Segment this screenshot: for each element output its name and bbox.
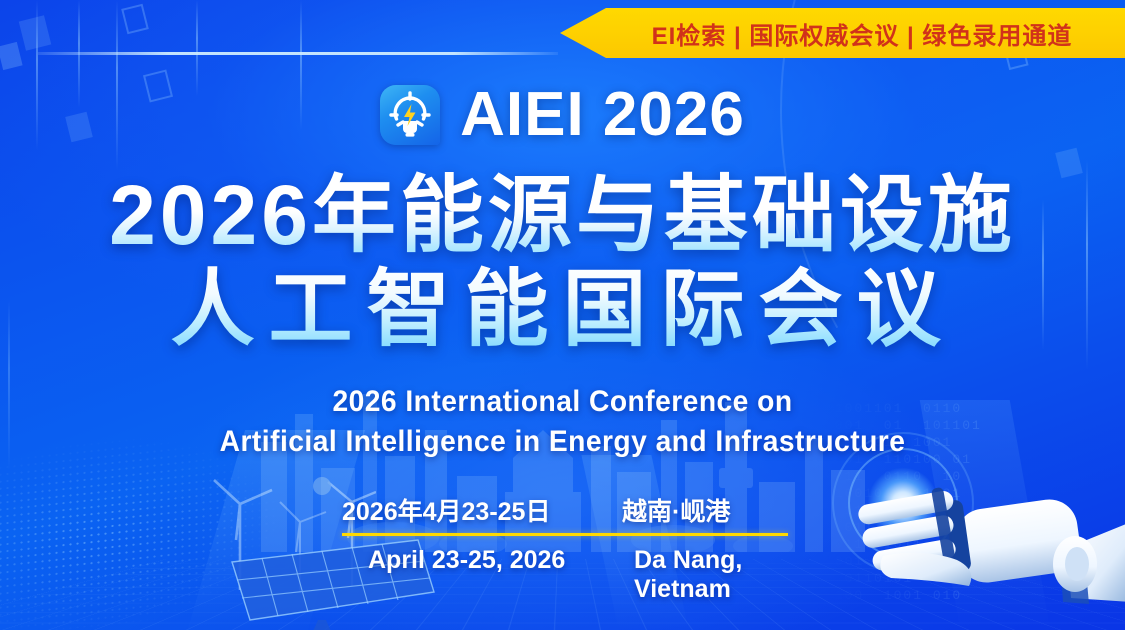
- conference-title-en: 2026 International Conference on Artific…: [34, 382, 1092, 461]
- brand-row: AIEI 2026: [0, 84, 1125, 146]
- floating-square: [0, 42, 23, 70]
- ribbon-shape: EI检索 | 国际权威会议 | 绿色录用通道: [560, 8, 1125, 58]
- event-details-en: April 23-25, 2026 Da Nang, Vietnam: [342, 536, 788, 604]
- floating-square: [19, 15, 51, 50]
- title-cn-line2: 人工智能国际会议: [0, 262, 1125, 356]
- event-venue-en: Da Nang, Vietnam: [600, 546, 788, 604]
- bulb-bolt-icon: [380, 85, 440, 145]
- event-details: 2026年4月23-25日 越南·岘港 April 23-25, 2026 Da…: [342, 492, 788, 604]
- title-en-line2: Artificial Intelligence in Energy and In…: [34, 422, 1092, 462]
- event-details-cn: 2026年4月23-25日 越南·岘港: [342, 492, 788, 533]
- highlight-ribbon: EI检索 | 国际权威会议 | 绿色录用通道: [560, 8, 1125, 58]
- title-cn-line1: 2026年能源与基础设施: [0, 168, 1125, 262]
- ribbon-label: EI检索 | 国际权威会议 | 绿色录用通道: [614, 16, 1073, 51]
- conference-acronym: AIEI 2026: [460, 84, 745, 146]
- floating-square: [121, 4, 149, 35]
- event-date-cn: 2026年4月23-25日: [342, 492, 600, 528]
- event-venue-cn: 越南·岘港: [600, 492, 788, 528]
- title-en-line1: 2026 International Conference on: [34, 382, 1092, 422]
- accent-line: [196, 0, 198, 96]
- conference-title-cn: 2026年能源与基础设施 人工智能国际会议: [0, 168, 1125, 356]
- glowing-energy-orb: [868, 468, 938, 538]
- aiei-energy-bulb-logo-icon: [380, 85, 440, 145]
- ribbon-underline: [38, 52, 558, 55]
- event-date-en: April 23-25, 2026: [342, 546, 600, 575]
- robotic-hand: [831, 452, 1125, 630]
- orb-ring: [848, 448, 958, 558]
- conference-banner: 01001101 0110 1001 01 101101 0101101 100…: [0, 0, 1125, 630]
